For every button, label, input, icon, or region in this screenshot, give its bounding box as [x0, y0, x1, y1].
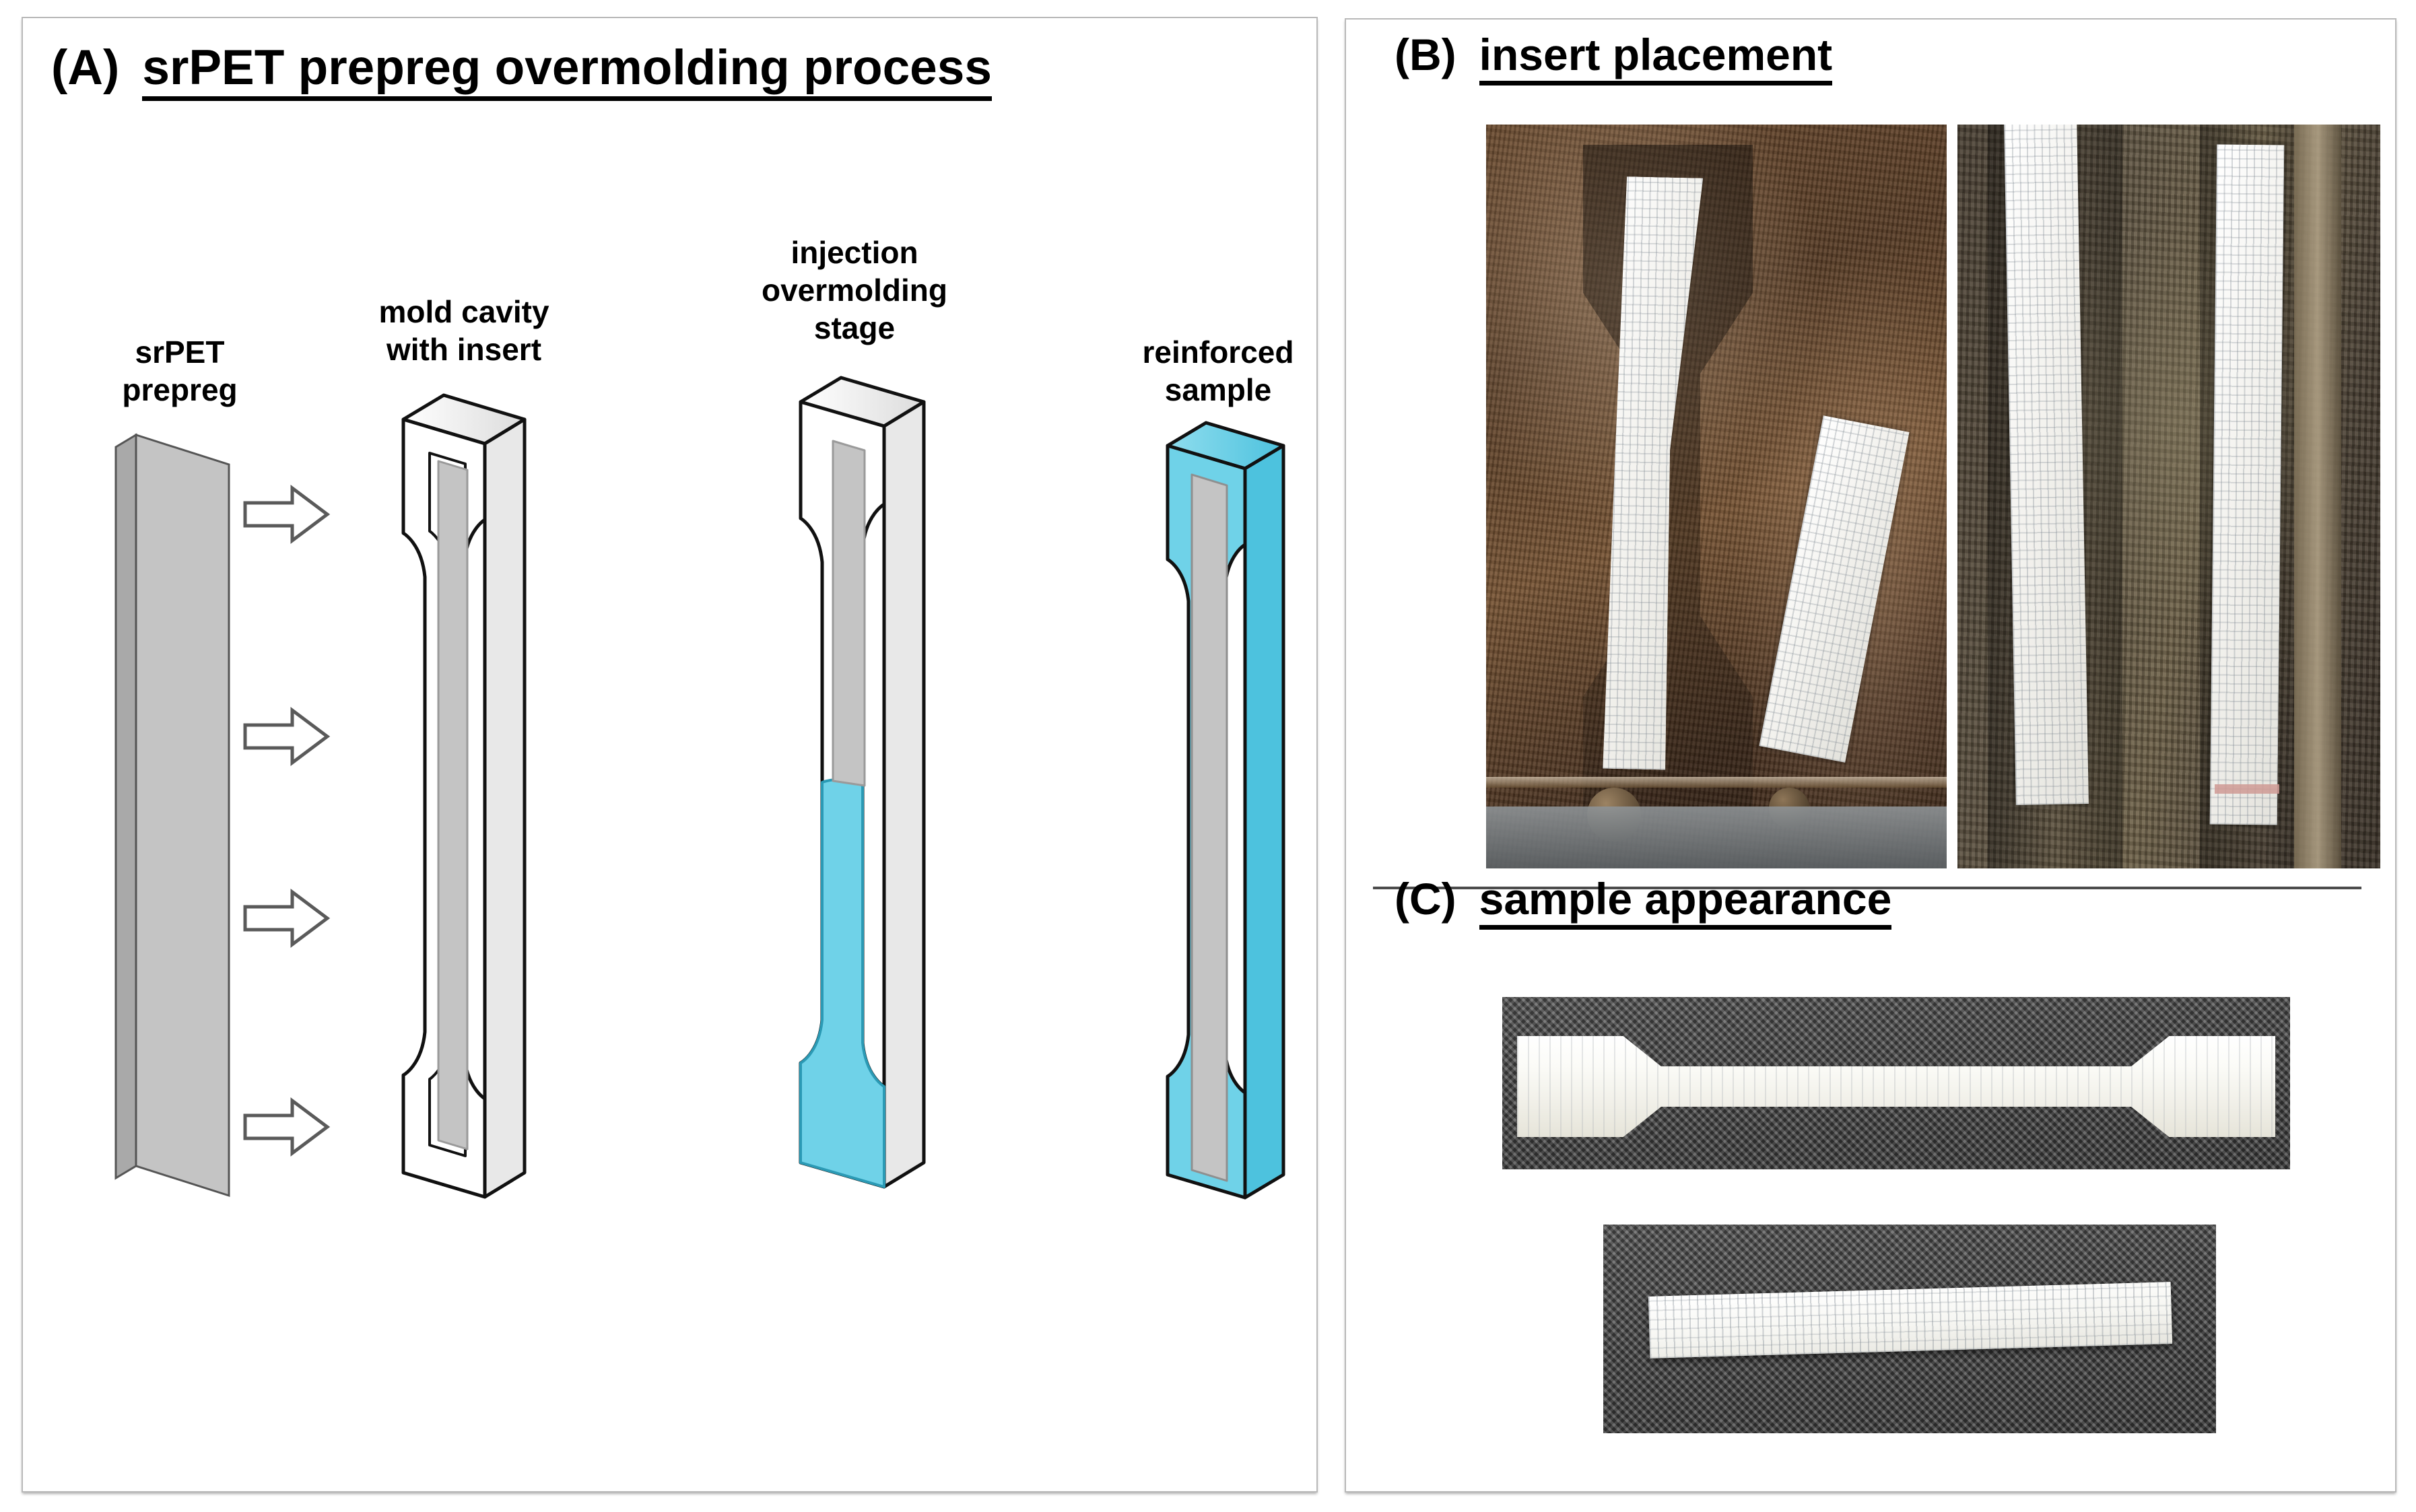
melt-front-cyan — [801, 780, 884, 1187]
panel-c-header: (C) sample appearance — [1395, 873, 1891, 930]
step-label-injection: injection overmolding stage — [723, 234, 986, 347]
step-prepreg-graphic — [116, 435, 229, 1196]
process-arrow-3 — [245, 892, 327, 944]
mold-rail — [1486, 777, 1947, 788]
photo-srpet-tape-strip — [1603, 1225, 2216, 1433]
tape-marker-tick — [2215, 784, 2279, 794]
process-arrow-4 — [245, 1101, 327, 1153]
process-arrow-2 — [245, 710, 327, 763]
step-mold-cavity-graphic — [403, 395, 525, 1197]
panel-c-title: sample appearance — [1479, 877, 1892, 930]
panel-c-tag: (C) — [1395, 873, 1456, 924]
step-reinforced-sample-graphic — [1168, 423, 1283, 1198]
panel-b-tag: (B) — [1395, 29, 1456, 80]
panel-b-header: (B) insert placement — [1395, 29, 1832, 85]
panel-b-title: insert placement — [1479, 32, 1833, 85]
tape-insert-right — [2210, 145, 2285, 825]
insert-grey-strip — [438, 461, 467, 1149]
process-arrows — [245, 488, 327, 1153]
overmolding-process-diagram — [23, 18, 1319, 1494]
photo-insert-closeup — [1957, 125, 2380, 868]
mold-edge-rib — [2294, 125, 2341, 868]
step-label-mold-cavity: mold cavity with insert — [343, 293, 585, 368]
machine-base-edge — [1486, 806, 1947, 868]
process-arrow-1 — [245, 488, 327, 541]
insert-grey-core — [1192, 475, 1227, 1181]
photo-overmolded-dogbone — [1502, 997, 2290, 1169]
photo-mold-with-inserts — [1486, 125, 1947, 868]
insert-grey-strip — [833, 441, 865, 786]
step-label-prepreg: srPET prepreg — [102, 333, 257, 409]
step-injection-graphic — [801, 378, 924, 1187]
panel-a: (A) srPET prepreg overmolding process — [22, 17, 1318, 1492]
panel-bc: (B) insert placement (C) sample appearan… — [1345, 18, 2396, 1492]
tape-insert-left — [2004, 125, 2089, 805]
step-label-reinforced-sample: reinforced sample — [1107, 333, 1329, 409]
